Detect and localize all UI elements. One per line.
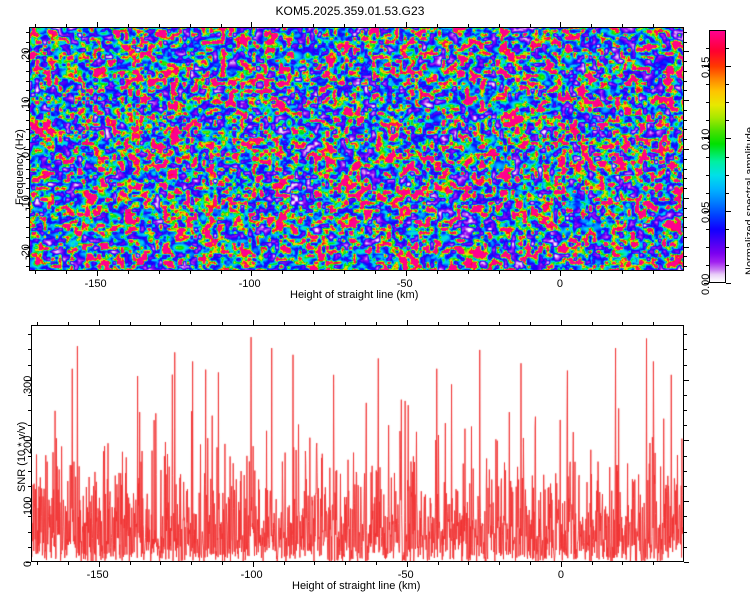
axis-tick-label: -150 <box>85 278 107 290</box>
axis-tick <box>35 24 36 27</box>
axis-tick <box>726 175 729 176</box>
axis-tick <box>622 322 623 325</box>
axis-tick <box>530 24 531 27</box>
axis-tick <box>622 562 623 565</box>
colorbar-label: Normalized spectral amplitude <box>744 127 750 275</box>
axis-tick <box>407 562 408 567</box>
axis-tick <box>684 71 687 72</box>
axis-tick <box>26 237 29 238</box>
axis-tick <box>468 562 469 565</box>
axis-tick <box>684 178 687 179</box>
axis-tick <box>726 247 729 248</box>
axis-tick <box>26 71 29 72</box>
snr-axes-frame <box>31 325 684 562</box>
axis-tick <box>653 24 654 27</box>
axis-tick <box>706 102 709 103</box>
axis-tick <box>26 110 29 111</box>
figure-root: KOM5.2025.359.01.53.G23 20100-10-20 Freq… <box>0 0 750 600</box>
axis-tick <box>26 32 29 33</box>
axis-tick-label: 0.10 <box>700 129 712 150</box>
axis-tick <box>560 271 561 276</box>
axis-tick <box>37 562 38 565</box>
axis-tick <box>499 562 500 565</box>
axis-tick <box>468 24 469 27</box>
axis-tick <box>622 24 623 27</box>
axis-tick <box>375 24 376 27</box>
axis-tick <box>684 334 687 335</box>
axis-tick <box>726 229 729 230</box>
axis-tick <box>684 100 689 101</box>
axis-tick <box>221 24 222 27</box>
axis-tick <box>99 320 100 325</box>
axis-tick <box>684 169 687 170</box>
axis-tick <box>468 271 469 274</box>
axis-tick <box>706 120 709 121</box>
axis-tick <box>684 237 687 238</box>
axis-tick-label: 0 <box>22 560 34 566</box>
axis-tick <box>68 322 69 325</box>
axis-tick <box>726 66 731 67</box>
axis-tick <box>345 562 346 565</box>
axis-tick-label: 0 <box>558 569 564 581</box>
axis-tick <box>561 320 562 325</box>
spectrogram-x-axis-label: Height of straight line (km) <box>290 289 418 301</box>
axis-tick <box>253 562 254 567</box>
axis-tick <box>684 516 687 517</box>
axis-tick <box>26 169 29 170</box>
axis-tick <box>26 61 29 62</box>
axis-tick-label: 300 <box>22 375 34 393</box>
axis-tick <box>684 149 689 150</box>
axis-tick <box>684 217 687 218</box>
axis-tick <box>706 157 709 158</box>
axis-tick <box>130 322 131 325</box>
axis-tick <box>313 271 314 274</box>
axis-tick <box>499 271 500 274</box>
axis-tick <box>684 266 687 267</box>
axis-tick <box>128 271 129 274</box>
axis-tick <box>97 22 98 27</box>
axis-tick <box>437 24 438 27</box>
axis-tick <box>684 120 687 121</box>
axis-tick <box>684 562 689 563</box>
axis-tick <box>26 42 29 43</box>
axis-tick <box>26 129 29 130</box>
axis-tick <box>684 90 687 91</box>
axis-tick <box>406 22 407 27</box>
axis-tick <box>499 322 500 325</box>
axis-tick <box>684 208 687 209</box>
snr-y-axis-label: SNR (10 * v/v) <box>16 422 28 492</box>
axis-tick <box>407 320 408 325</box>
axis-tick <box>28 410 31 411</box>
spectrogram-axes-frame <box>29 27 684 271</box>
axis-tick-label: 100 <box>22 496 34 514</box>
axis-tick <box>282 271 283 274</box>
axis-tick <box>684 395 687 396</box>
axis-tick <box>28 471 31 472</box>
axis-tick <box>684 110 687 111</box>
axis-tick <box>684 81 687 82</box>
axis-tick <box>222 322 223 325</box>
axis-tick <box>499 24 500 27</box>
axis-tick <box>99 562 100 567</box>
axis-tick <box>438 562 439 565</box>
axis-tick <box>37 322 38 325</box>
axis-tick <box>684 256 687 257</box>
axis-tick <box>314 322 315 325</box>
axis-tick <box>684 532 687 533</box>
axis-tick <box>222 562 223 565</box>
axis-tick-label: -100 <box>239 278 261 290</box>
axis-tick <box>726 283 731 284</box>
axis-tick <box>26 90 29 91</box>
snr-x-axis-label: Height of straight line (km) <box>292 580 420 592</box>
axis-tick <box>561 562 562 567</box>
axis-tick <box>592 322 593 325</box>
axis-tick <box>684 32 687 33</box>
axis-tick <box>684 456 687 457</box>
axis-tick <box>191 322 192 325</box>
axis-tick <box>344 271 345 274</box>
axis-tick <box>726 48 729 49</box>
axis-tick <box>345 322 346 325</box>
axis-tick <box>190 24 191 27</box>
axis-tick-label: -20 <box>20 244 32 260</box>
axis-tick <box>684 501 689 502</box>
axis-tick <box>251 22 252 27</box>
axis-tick <box>684 365 687 366</box>
axis-tick <box>66 271 67 274</box>
axis-tick-label: 0 <box>557 278 563 290</box>
axis-tick <box>160 562 161 565</box>
axis-tick <box>726 211 731 212</box>
axis-tick <box>284 562 285 565</box>
axis-tick <box>68 562 69 565</box>
axis-tick <box>684 159 687 160</box>
axis-tick <box>653 322 654 325</box>
axis-tick-label: -150 <box>87 569 109 581</box>
axis-tick <box>28 456 31 457</box>
axis-tick <box>26 120 29 121</box>
axis-tick <box>28 486 31 487</box>
axis-tick <box>375 271 376 274</box>
axis-tick <box>726 157 729 158</box>
axis-tick <box>592 562 593 565</box>
axis-tick <box>26 159 29 160</box>
axis-tick <box>622 271 623 274</box>
axis-tick <box>28 395 31 396</box>
axis-tick <box>376 322 377 325</box>
axis-tick <box>468 322 469 325</box>
axis-tick <box>560 22 561 27</box>
axis-tick-label: 10 <box>20 97 32 109</box>
axis-tick-label: 20 <box>20 48 32 60</box>
axis-tick <box>28 349 31 350</box>
axis-tick <box>684 440 689 441</box>
axis-tick <box>159 24 160 27</box>
axis-tick <box>684 61 687 62</box>
axis-tick <box>530 562 531 565</box>
axis-tick <box>706 175 709 176</box>
axis-tick <box>684 129 687 130</box>
axis-tick <box>253 320 254 325</box>
axis-tick <box>706 265 709 266</box>
axis-tick <box>66 24 67 27</box>
axis-tick <box>406 271 407 276</box>
axis-tick <box>684 410 687 411</box>
axis-tick <box>26 178 29 179</box>
axis-tick <box>35 271 36 274</box>
axis-tick <box>684 380 689 381</box>
axis-tick <box>684 247 689 248</box>
axis-tick <box>26 227 29 228</box>
axis-tick <box>28 547 31 548</box>
axis-tick <box>684 486 687 487</box>
axis-tick <box>706 229 709 230</box>
axis-tick-label: -100 <box>241 569 263 581</box>
axis-tick <box>438 322 439 325</box>
axis-tick <box>97 271 98 276</box>
axis-tick-label: 0.00 <box>700 274 712 295</box>
axis-tick <box>190 271 191 274</box>
axis-tick <box>726 84 729 85</box>
axis-tick <box>684 51 689 52</box>
axis-tick <box>726 120 729 121</box>
axis-tick <box>160 322 161 325</box>
axis-tick <box>591 24 592 27</box>
axis-tick <box>251 271 252 276</box>
axis-tick <box>282 24 283 27</box>
axis-tick <box>26 188 29 189</box>
axis-tick <box>684 349 687 350</box>
axis-tick <box>26 139 29 140</box>
axis-tick <box>191 562 192 565</box>
axis-tick <box>684 198 689 199</box>
axis-tick <box>28 532 31 533</box>
axis-tick <box>530 271 531 274</box>
axis-tick <box>26 81 29 82</box>
axis-tick <box>684 227 687 228</box>
page-title: KOM5.2025.359.01.53.G23 <box>0 4 700 18</box>
axis-tick <box>706 193 709 194</box>
axis-tick <box>726 265 729 266</box>
axis-tick <box>726 102 729 103</box>
axis-tick <box>344 24 345 27</box>
axis-tick <box>284 322 285 325</box>
axis-tick <box>684 425 687 426</box>
axis-tick-label: 0.05 <box>700 202 712 223</box>
axis-tick <box>26 256 29 257</box>
axis-tick <box>591 271 592 274</box>
axis-tick <box>726 138 731 139</box>
axis-tick <box>26 217 29 218</box>
axis-tick <box>314 562 315 565</box>
axis-tick <box>26 208 29 209</box>
axis-tick <box>313 24 314 27</box>
axis-tick <box>28 365 31 366</box>
axis-tick <box>706 84 709 85</box>
axis-tick <box>706 48 709 49</box>
axis-tick <box>653 562 654 565</box>
axis-tick <box>437 271 438 274</box>
axis-tick <box>684 139 687 140</box>
axis-tick <box>28 334 31 335</box>
axis-tick <box>684 471 687 472</box>
spectrogram-y-axis-label: Frequency (Hz) <box>14 129 26 205</box>
axis-tick <box>130 562 131 565</box>
axis-tick <box>221 271 222 274</box>
axis-tick <box>530 322 531 325</box>
axis-tick <box>684 42 687 43</box>
axis-tick <box>684 188 687 189</box>
axis-tick <box>26 266 29 267</box>
axis-tick <box>28 516 31 517</box>
colorbar-gradient <box>710 31 725 282</box>
axis-tick <box>706 247 709 248</box>
axis-tick <box>376 562 377 565</box>
axis-tick <box>684 547 687 548</box>
axis-tick <box>128 24 129 27</box>
axis-tick <box>653 271 654 274</box>
axis-tick <box>159 271 160 274</box>
axis-tick-label: 0.15 <box>700 57 712 78</box>
axis-tick <box>726 193 729 194</box>
axis-tick <box>28 425 31 426</box>
